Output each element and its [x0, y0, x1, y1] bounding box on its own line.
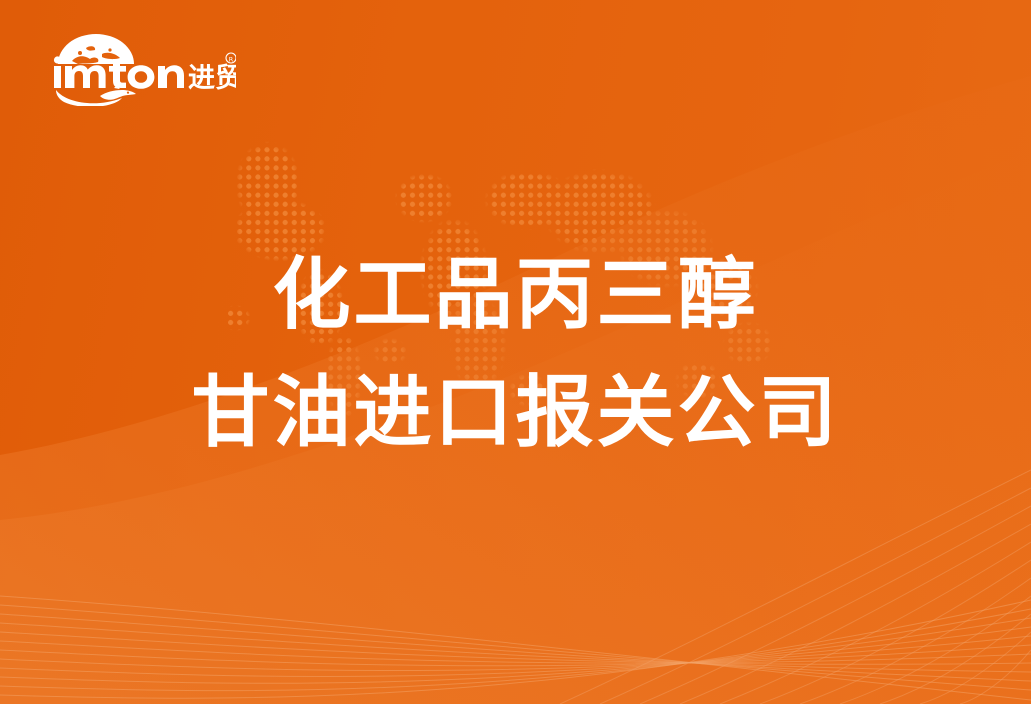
trademark-icon: R [226, 53, 236, 63]
headline-line-1: 化工品丙三醇 [0, 236, 1031, 354]
globe-icon [58, 34, 134, 64]
svg-text:进贸通: 进贸通 [188, 63, 236, 94]
logo-chinese-name: 进贸通 [188, 63, 236, 94]
headline-line-2: 甘油进口报关公司 [0, 354, 1031, 472]
page-title: 化工品丙三醇 甘油进口报关公司 [0, 236, 1031, 472]
svg-text:R: R [229, 55, 234, 63]
promo-banner: 进贸通 R 化工品丙三醇 甘油进口报关公司 [0, 0, 1031, 704]
company-logo[interactable]: 进贸通 R [36, 26, 236, 106]
